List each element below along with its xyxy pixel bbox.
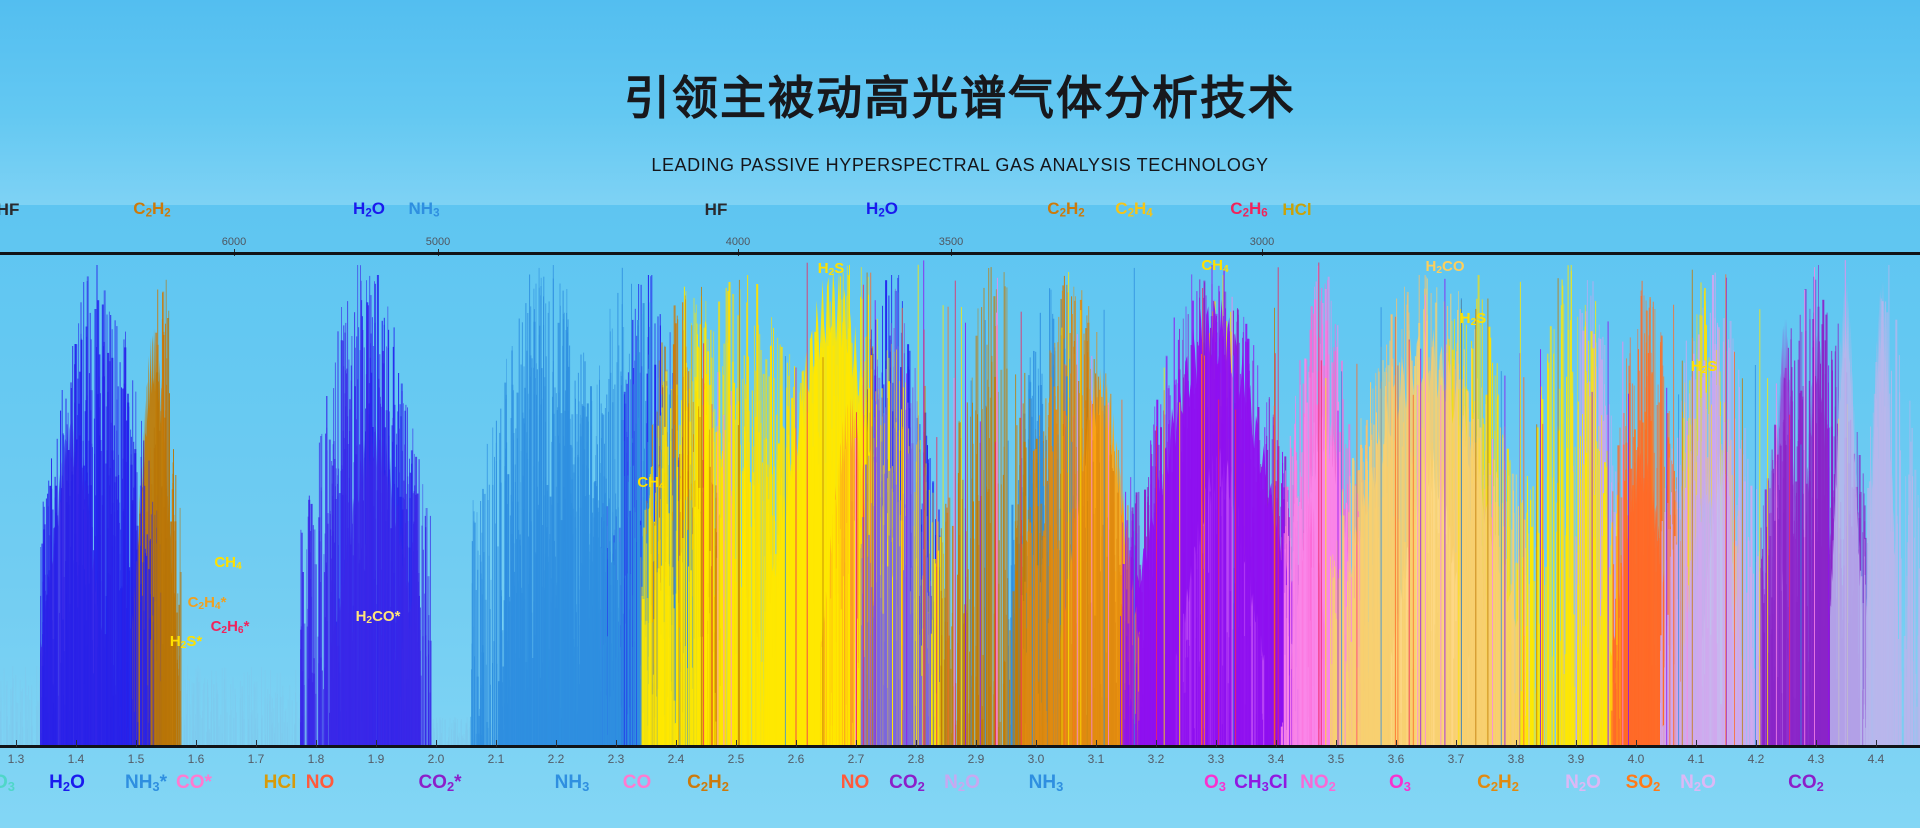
- bottom-axis-tick-mark: [1516, 740, 1517, 747]
- bottom-gas-label-hcl: HCl: [264, 772, 297, 794]
- bottom-axis-tick-mark: [436, 740, 437, 747]
- bottom-axis-tick-label: 3.2: [1148, 752, 1165, 766]
- bottom-axis-tick-mark: [496, 740, 497, 747]
- bottom-axis-tick-label: 3.0: [1028, 752, 1045, 766]
- bottom-axis-tick-mark: [1216, 740, 1217, 747]
- bottom-gas-label-ch3cl: CH3Cl: [1234, 772, 1288, 794]
- bottom-gas-label-o3: O3: [0, 772, 15, 794]
- spectrum-plot: [0, 255, 1920, 745]
- bottom-axis-tick-mark: [1156, 740, 1157, 747]
- spectrum-canvas: [0, 255, 1920, 745]
- bottom-axis-tick-label: 3.9: [1568, 752, 1585, 766]
- bottom-gas-label-co2: CO2: [1788, 772, 1824, 794]
- bottom-axis-tick-mark: [556, 740, 557, 747]
- bottom-gas-label-no2: NO2: [1300, 772, 1336, 794]
- bottom-axis-tick-label: 3.1: [1088, 752, 1105, 766]
- bottom-axis-tick-label: 2.4: [668, 752, 685, 766]
- bottom-gas-label-so2: SO2: [1626, 772, 1661, 794]
- bottom-axis-tick-mark: [1396, 740, 1397, 747]
- top-gas-label-hf: HF: [705, 200, 728, 220]
- bottom-axis-tick-label: 2.3: [608, 752, 625, 766]
- top-gas-label-h2o: H2O: [353, 199, 385, 220]
- bottom-gas-label-h2o: H2O: [49, 772, 85, 794]
- bottom-axis-tick-mark: [1336, 740, 1337, 747]
- top-gas-label-hf: HF: [0, 200, 19, 220]
- bottom-axis-tick-mark: [1756, 740, 1757, 747]
- bottom-gas-label-co2star: CO2*: [418, 772, 461, 794]
- bottom-gas-label-c2h2: C2H2: [687, 772, 729, 794]
- bottom-axis-tick-mark: [16, 740, 17, 747]
- bottom-axis-tick-mark: [1456, 740, 1457, 747]
- bottom-axis-tick-label: 3.5: [1328, 752, 1345, 766]
- bottom-axis-tick-mark: [76, 740, 77, 747]
- bottom-axis-tick-mark: [916, 740, 917, 747]
- bottom-axis-tick-mark: [1276, 740, 1277, 747]
- top-axis-band: 60005000400035003000HFC2H2H2ONH3HFH2OC2H…: [0, 196, 1920, 256]
- bottom-axis-band: 1.31.41.51.61.71.81.92.02.12.22.32.42.52…: [0, 748, 1920, 828]
- bottom-axis-tick-label: 1.3: [8, 752, 25, 766]
- bottom-axis-tick-mark: [256, 740, 257, 747]
- top-gas-label-c2h6: C2H6: [1230, 199, 1267, 220]
- bottom-gas-label-no: NO: [841, 772, 870, 794]
- bottom-axis-tick-mark: [976, 740, 977, 747]
- bottom-axis-tick-label: 4.4: [1868, 752, 1885, 766]
- bottom-gas-label-n2o: N2O: [1565, 772, 1601, 794]
- bottom-axis-tick-label: 4.3: [1808, 752, 1825, 766]
- spectrum-poster: 引领主被动高光谱气体分析技术 LEADING PASSIVE HYPERSPEC…: [0, 0, 1920, 828]
- bottom-axis-tick-label: 1.7: [248, 752, 265, 766]
- bottom-axis-tick-label: 2.2: [548, 752, 565, 766]
- bottom-axis-tick-label: 4.0: [1628, 752, 1645, 766]
- bottom-gas-label-co: CO: [623, 772, 652, 794]
- bottom-axis-tick-mark: [736, 740, 737, 747]
- top-gas-label-c2h2: C2H2: [1047, 199, 1084, 220]
- bottom-gas-label-c2h2: C2H2: [1477, 772, 1519, 794]
- bottom-gas-label-no: NO: [306, 772, 335, 794]
- bottom-axis-tick-label: 3.4: [1268, 752, 1285, 766]
- bottom-gas-label-costar: CO*: [176, 772, 212, 794]
- bottom-axis-tick-label: 2.7: [848, 752, 865, 766]
- bottom-axis-tick-mark: [1696, 740, 1697, 747]
- bottom-axis-tick-label: 4.2: [1748, 752, 1765, 766]
- bottom-axis-tick-label: 3.8: [1508, 752, 1525, 766]
- bottom-gas-label-o3: O3: [1389, 772, 1411, 794]
- bottom-axis-tick-label: 1.5: [128, 752, 145, 766]
- bottom-axis-tick-mark: [1036, 740, 1037, 747]
- bottom-axis-tick-label: 3.7: [1448, 752, 1465, 766]
- bottom-axis-tick-label: 3.6: [1388, 752, 1405, 766]
- bottom-axis-tick-label: 1.9: [368, 752, 385, 766]
- bottom-axis-tick-label: 2.6: [788, 752, 805, 766]
- bottom-gas-label-nh3: NH3: [555, 772, 590, 794]
- top-gas-label-nh3: NH3: [409, 199, 440, 220]
- bottom-axis-tick-mark: [376, 740, 377, 747]
- bottom-axis-tick-label: 1.4: [68, 752, 85, 766]
- top-gas-label-hcl: HCl: [1282, 200, 1311, 220]
- bottom-axis-tick-mark: [1576, 740, 1577, 747]
- bottom-gas-label-n2o: N2O: [1680, 772, 1716, 794]
- header-banner: 引领主被动高光谱气体分析技术 LEADING PASSIVE HYPERSPEC…: [0, 0, 1920, 205]
- bottom-axis-tick-label: 2.8: [908, 752, 925, 766]
- bottom-axis-tick-mark: [136, 740, 137, 747]
- bottom-axis-tick-mark: [316, 740, 317, 747]
- top-gas-label-h2o: H2O: [866, 199, 898, 220]
- bottom-axis-tick-label: 1.8: [308, 752, 325, 766]
- bottom-axis-tick-label: 2.9: [968, 752, 985, 766]
- bottom-gas-label-n2o: N2O: [944, 772, 980, 794]
- bottom-axis-tick-label: 2.1: [488, 752, 505, 766]
- bottom-axis-tick-mark: [1876, 740, 1877, 747]
- top-gas-label-c2h2: C2H2: [133, 199, 170, 220]
- bottom-axis-tick-mark: [1636, 740, 1637, 747]
- page-subtitle: LEADING PASSIVE HYPERSPECTRAL GAS ANALYS…: [0, 155, 1920, 176]
- bottom-axis-tick-mark: [676, 740, 677, 747]
- bottom-axis-tick-label: 1.6: [188, 752, 205, 766]
- top-gas-label-c2h4: C2H4: [1115, 199, 1152, 220]
- page-title: 引领主被动高光谱气体分析技术: [0, 62, 1920, 128]
- top-axis-tick-label: 4000: [726, 236, 750, 248]
- bottom-axis-tick-label: 2.5: [728, 752, 745, 766]
- top-axis-tick-label: 5000: [426, 236, 450, 248]
- bottom-axis-tick-mark: [616, 740, 617, 747]
- bottom-axis-tick-mark: [196, 740, 197, 747]
- bottom-gas-label-o3: O3: [1204, 772, 1226, 794]
- bottom-axis-tick-label: 2.0: [428, 752, 445, 766]
- bottom-gas-label-nh3: NH3: [1029, 772, 1064, 794]
- bottom-axis-tick-mark: [856, 740, 857, 747]
- bottom-axis-tick-label: 4.1: [1688, 752, 1705, 766]
- bottom-gas-label-nh3star: NH3*: [125, 772, 167, 794]
- bottom-axis-tick-mark: [796, 740, 797, 747]
- bottom-axis-tick-label: 3.3: [1208, 752, 1225, 766]
- bottom-axis-tick-mark: [1816, 740, 1817, 747]
- bottom-axis-tick-mark: [1096, 740, 1097, 747]
- top-axis-tick-label: 3000: [1250, 236, 1274, 248]
- top-axis-tick-label: 3500: [939, 236, 963, 248]
- bottom-gas-label-co2: CO2: [889, 772, 925, 794]
- top-axis-tick-label: 6000: [222, 236, 246, 248]
